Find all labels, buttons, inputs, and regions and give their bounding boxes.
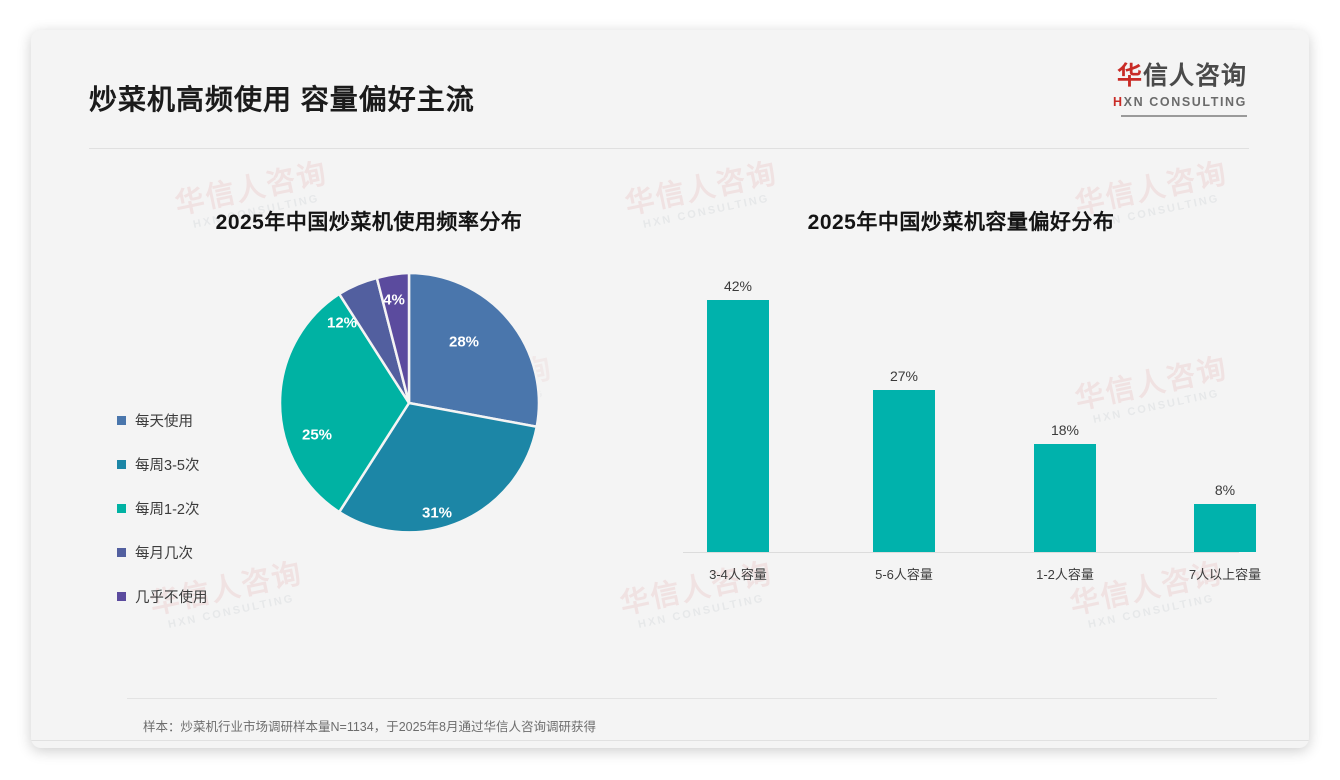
- bar-value-label: 18%: [1051, 422, 1079, 438]
- logo-chinese: 华信人咨询: [1113, 64, 1247, 89]
- pie-slice-label: 25%: [302, 427, 332, 444]
- legend-swatch: [117, 460, 126, 469]
- footer-divider: [31, 740, 1309, 741]
- bar-column[interactable]: 27%: [873, 368, 935, 552]
- bar-column[interactable]: 8%: [1194, 482, 1256, 552]
- pie-legend: 每天使用 每周3-5次 每周1-2次 每月几次 几乎不使用: [117, 410, 208, 630]
- legend-swatch: [117, 548, 126, 557]
- slide-card: 华信人咨询 HXN CONSULTING 华信人咨询 HXN CONSULTIN…: [31, 30, 1309, 748]
- bar-rect[interactable]: [873, 390, 935, 552]
- bar-value-label: 42%: [724, 278, 752, 294]
- bar-category-label: 1-2人容量: [1005, 564, 1125, 583]
- bar-column[interactable]: 42%: [707, 278, 769, 552]
- logo-underline: [1121, 115, 1247, 117]
- bar-chart-area: 42% 27% 18% 8% 5%: [671, 258, 1251, 598]
- legend-label: 每周1-2次: [135, 498, 199, 519]
- bar-chart-title: 2025年中国炒菜机容量偏好分布: [671, 206, 1251, 236]
- bar-value-label: 27%: [890, 368, 918, 384]
- legend-label: 每周3-5次: [135, 454, 199, 475]
- bar-plot: 42% 27% 18% 8% 5%: [683, 276, 1239, 552]
- bar-value-label: 8%: [1215, 482, 1235, 498]
- pie-chart-panel: 2025年中国炒菜机使用频率分布 每天使用 每周3-5次 每周1-2次 每月几: [89, 206, 649, 598]
- bar-axis-line: [683, 552, 1239, 553]
- logo-english: HXN CONSULTING: [1113, 96, 1247, 109]
- logo-english-red: H: [1113, 95, 1124, 109]
- logo-chinese-red: 华: [1117, 62, 1143, 90]
- bar-rect[interactable]: [707, 300, 769, 552]
- legend-swatch: [117, 416, 126, 425]
- pie-slice-label: 28%: [449, 334, 479, 351]
- page-title: 炒菜机高频使用 容量偏好主流: [89, 78, 475, 118]
- title-divider: [89, 148, 1249, 149]
- legend-label: 每月几次: [135, 542, 193, 563]
- pie-graphic: 28% 31% 25% 12% 4%: [274, 268, 544, 538]
- legend-item[interactable]: 每周3-5次: [117, 454, 208, 475]
- logo-chinese-rest: 信人咨询: [1143, 62, 1247, 90]
- note-divider: [127, 698, 1217, 699]
- legend-item[interactable]: 每天使用: [117, 410, 208, 431]
- legend-swatch: [117, 504, 126, 513]
- pie-slice-label: 31%: [422, 505, 452, 522]
- pie-svg: [274, 268, 544, 538]
- legend-swatch: [117, 592, 126, 601]
- pie-slices: [280, 273, 539, 532]
- bar-rect[interactable]: [1034, 444, 1096, 552]
- slide-header: 炒菜机高频使用 容量偏好主流 华信人咨询 HXN CONSULTING: [31, 30, 1309, 130]
- company-logo: 华信人咨询 HXN CONSULTING: [1113, 64, 1247, 117]
- legend-item[interactable]: 每周1-2次: [117, 498, 208, 519]
- bar-chart-panel: 2025年中国炒菜机容量偏好分布 42% 27% 18% 8%: [671, 206, 1251, 598]
- bar-column[interactable]: 18%: [1034, 422, 1096, 552]
- bar-rect[interactable]: [1194, 504, 1256, 552]
- pie-chart-title: 2025年中国炒菜机使用频率分布: [89, 206, 649, 236]
- legend-label: 每天使用: [135, 410, 193, 431]
- bar-category-label: 5-6人容量: [844, 564, 964, 583]
- legend-item[interactable]: 几乎不使用: [117, 586, 208, 607]
- logo-english-rest: XN CONSULTING: [1124, 95, 1247, 109]
- legend-label: 几乎不使用: [135, 586, 208, 607]
- pie-slice-label: 4%: [383, 292, 405, 309]
- bar-category-label: 7人以上容量: [1165, 564, 1285, 583]
- legend-item[interactable]: 每月几次: [117, 542, 208, 563]
- pie-chart-area: 每天使用 每周3-5次 每周1-2次 每月几次 几乎不使用: [89, 258, 649, 598]
- sample-note: 样本：炒菜机行业市场调研样本量N=1134，于2025年8月通过华信人咨询调研获…: [143, 716, 596, 735]
- pie-slice-label: 12%: [327, 315, 357, 332]
- bar-category-label: 3-4人容量: [678, 564, 798, 583]
